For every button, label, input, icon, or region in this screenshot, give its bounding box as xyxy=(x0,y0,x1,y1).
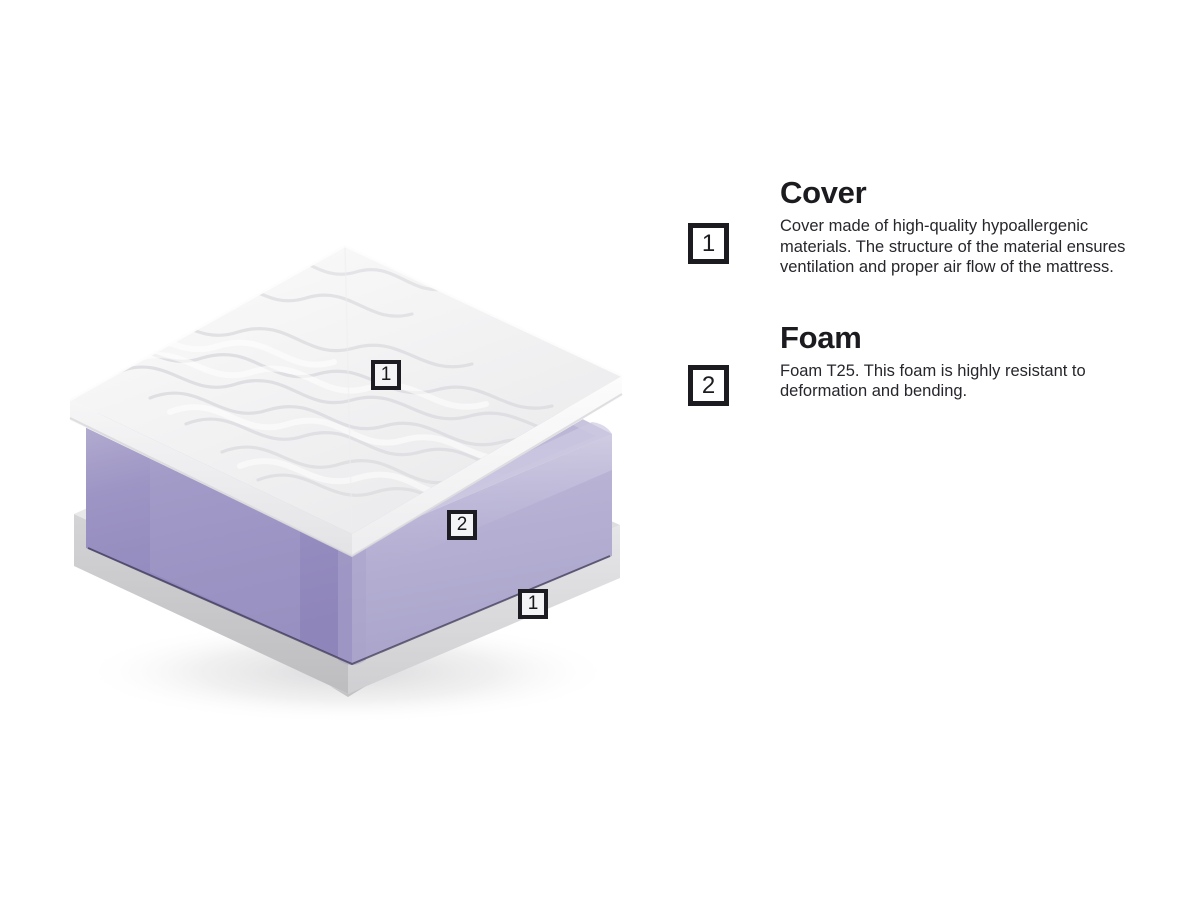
legend-title-foam: Foam xyxy=(780,321,1158,355)
legend-title-cover: Cover xyxy=(780,176,1158,210)
marker-badge-cover-top-value: 1 xyxy=(375,364,397,386)
legend-entry-cover: 1 Cover Cover made of high-quality hypoa… xyxy=(688,176,1158,278)
marker-badge-foam-value: 2 xyxy=(451,514,473,536)
legend-entry-foam: 2 Foam Foam T25. This foam is highly res… xyxy=(688,321,1158,402)
mattress-illustration: 1 2 1 xyxy=(0,0,660,899)
legend-number-box-1: 1 xyxy=(688,223,729,264)
mattress-illustration-svg xyxy=(0,0,660,899)
legend-text-foam: Foam T25. This foam is highly resistant … xyxy=(780,361,1152,402)
page-root: 1 2 1 1 Cover Cover made of high-quality… xyxy=(0,0,1200,899)
legend-body-foam: Foam Foam T25. This foam is highly resis… xyxy=(780,321,1158,402)
marker-badge-cover-base: 1 xyxy=(518,589,548,619)
legend-number-box-2: 2 xyxy=(688,365,729,406)
legend-number-2-value: 2 xyxy=(702,372,715,399)
legend-body-cover: Cover Cover made of high-quality hypoall… xyxy=(780,176,1158,278)
marker-badge-cover-top: 1 xyxy=(371,360,401,390)
legend-text-cover: Cover made of high-quality hypoallergeni… xyxy=(780,216,1152,278)
legend: 1 Cover Cover made of high-quality hypoa… xyxy=(688,176,1158,402)
marker-badge-foam: 2 xyxy=(447,510,477,540)
marker-badge-cover-base-value: 1 xyxy=(522,593,544,615)
legend-number-1-value: 1 xyxy=(702,230,715,257)
